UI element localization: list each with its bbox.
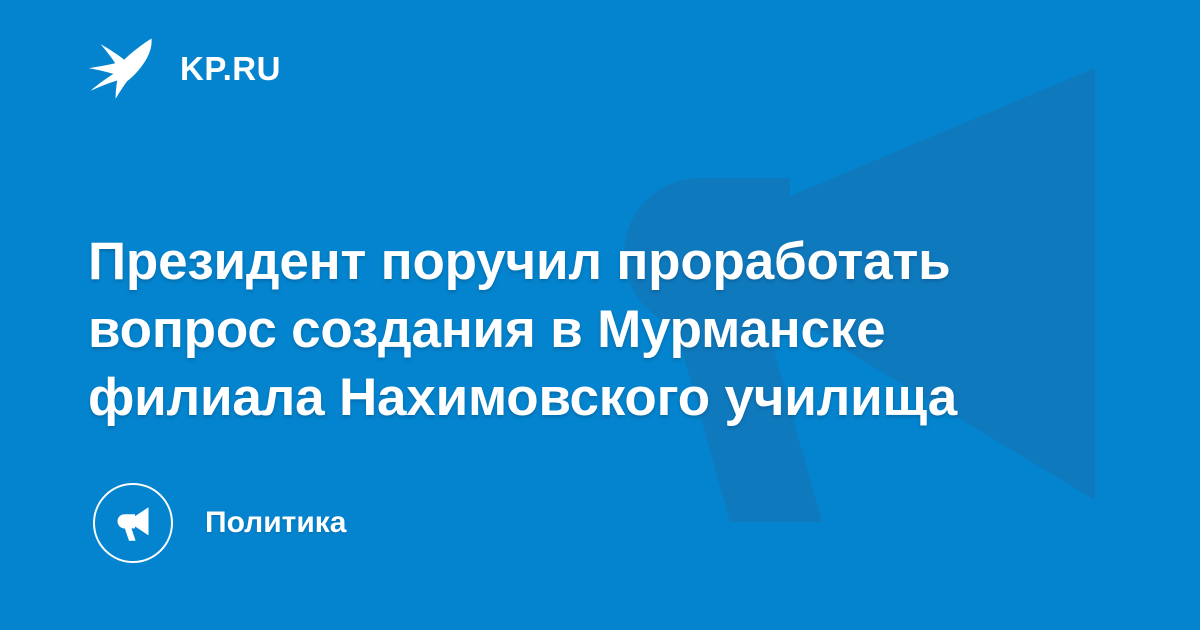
- news-share-card: KP.RU Президент поручил проработать вопр…: [0, 0, 1200, 630]
- megaphone-icon: [112, 502, 154, 544]
- brand-header[interactable]: KP.RU: [88, 36, 281, 100]
- rubric-tag[interactable]: Политика: [93, 483, 346, 563]
- rubric-badge: [93, 483, 173, 563]
- rubric-label: Политика: [205, 508, 346, 538]
- headline: Президент поручил проработать вопрос соз…: [88, 228, 1108, 432]
- swallow-bird-icon: [88, 37, 158, 99]
- brand-name: KP.RU: [180, 52, 281, 85]
